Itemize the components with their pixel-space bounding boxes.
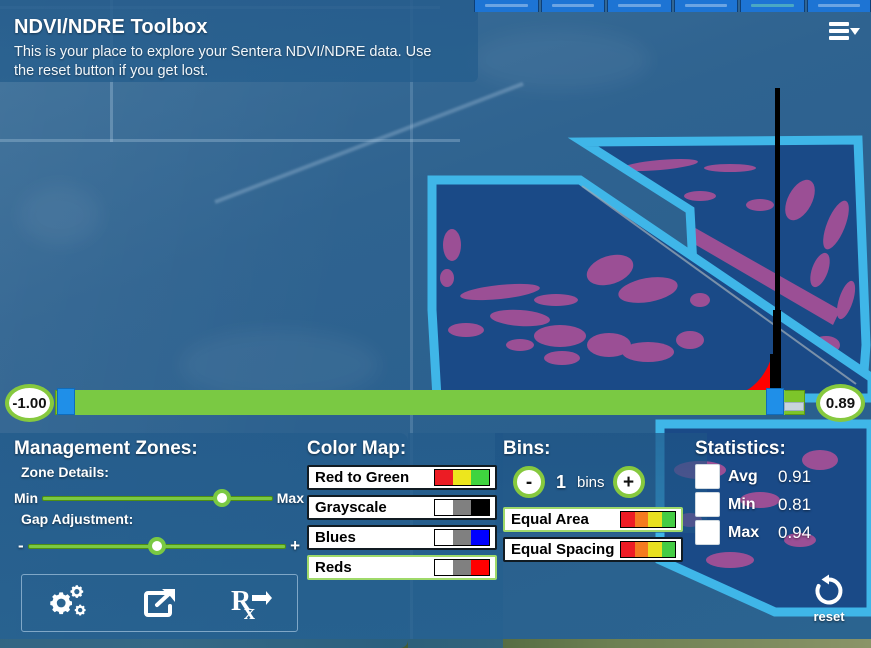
tab-1[interactable] bbox=[474, 0, 539, 12]
ndvi-range-slider[interactable]: -1.00 0.89 bbox=[0, 384, 871, 422]
bins-mode-label: Equal Area bbox=[505, 511, 620, 528]
management-zones-action-bar: R x bbox=[21, 574, 298, 632]
tab-5[interactable] bbox=[740, 0, 805, 12]
range-slider-handle-max[interactable] bbox=[766, 388, 784, 415]
statistics-checkbox-max[interactable] bbox=[695, 520, 720, 545]
menu-bar bbox=[829, 29, 849, 33]
management-zones-title: Management Zones: bbox=[14, 438, 304, 460]
range-max-value: 0.89 bbox=[816, 384, 865, 422]
gap-adjustment-slider[interactable] bbox=[28, 537, 286, 555]
statistics-title: Statistics: bbox=[695, 438, 870, 460]
color-map-option-label: Reds bbox=[309, 559, 434, 576]
bins-section: Bins: - 1 bins + Equal Area Equal Spacin… bbox=[503, 438, 693, 567]
gap-adjustment-slider-row: - + bbox=[14, 536, 304, 556]
settings-gears-icon[interactable] bbox=[47, 583, 91, 623]
color-map-option-label: Red to Green bbox=[309, 469, 434, 486]
statistics-value-max: 0.94 bbox=[778, 523, 811, 543]
bins-increment-button[interactable]: + bbox=[613, 466, 645, 498]
gap-adjustment-label: Gap Adjustment: bbox=[21, 511, 304, 527]
color-swatch bbox=[620, 511, 676, 528]
prescription-rx-icon[interactable]: R x bbox=[230, 583, 272, 623]
zone-detail-slider[interactable] bbox=[42, 489, 273, 507]
range-slider-stub bbox=[784, 402, 804, 411]
bins-count-value: 1 bbox=[553, 472, 569, 493]
slider-thumb[interactable] bbox=[213, 489, 231, 507]
bins-mode-equal-area[interactable]: Equal Area bbox=[503, 507, 683, 532]
tab-label bbox=[818, 4, 861, 7]
ndvi-toolbox-app: NDVI/NDRE Toolbox This is your place to … bbox=[0, 0, 871, 648]
statistics-row-avg: Avg 0.91 bbox=[695, 464, 870, 489]
management-zones-section: Management Zones: Zone Details: Min Max … bbox=[14, 438, 304, 556]
tab-label bbox=[685, 4, 728, 7]
page-title: NDVI/NDRE Toolbox bbox=[14, 16, 452, 39]
statistics-label-avg: Avg bbox=[720, 468, 778, 486]
statistics-row-max: Max 0.94 bbox=[695, 520, 870, 545]
color-swatch bbox=[434, 499, 490, 516]
statistics-section: Statistics: Avg 0.91 Min 0.81 Max 0.94 bbox=[695, 438, 870, 548]
slider-thumb[interactable] bbox=[148, 537, 166, 555]
color-map-option-reds[interactable]: Reds bbox=[307, 555, 497, 580]
toolbox-header: NDVI/NDRE Toolbox This is your place to … bbox=[0, 4, 466, 91]
statistics-checkbox-min[interactable] bbox=[695, 492, 720, 517]
color-swatch bbox=[434, 469, 490, 486]
menu-bar bbox=[829, 22, 849, 26]
zone-detail-slider-row: Min Max bbox=[14, 489, 304, 507]
bins-mode-label: Equal Spacing bbox=[505, 541, 620, 558]
reset-circular-arrow-icon bbox=[812, 574, 846, 608]
bins-decrement-button[interactable]: - bbox=[513, 466, 545, 498]
color-map-title: Color Map: bbox=[307, 438, 497, 460]
statistics-value-min: 0.81 bbox=[778, 495, 811, 515]
tab-label bbox=[751, 4, 794, 7]
color-map-option-blues[interactable]: Blues bbox=[307, 525, 497, 550]
color-map-section: Color Map: Red to Green Grayscale Blues bbox=[307, 438, 497, 585]
color-map-option-grayscale[interactable]: Grayscale bbox=[307, 495, 497, 520]
slider-track bbox=[42, 496, 273, 501]
range-slider-fill bbox=[57, 390, 785, 415]
tab-6[interactable] bbox=[807, 0, 871, 12]
color-map-option-label: Grayscale bbox=[309, 499, 434, 516]
zone-details-label: Zone Details: bbox=[21, 464, 304, 480]
tab-2[interactable] bbox=[541, 0, 606, 12]
page-subtitle: This is your place to explore your Sente… bbox=[14, 43, 452, 81]
controls-panel: Management Zones: Zone Details: Min Max … bbox=[0, 433, 871, 648]
bins-title: Bins: bbox=[503, 438, 693, 460]
svg-text:x: x bbox=[244, 599, 255, 623]
bins-unit-label: bins bbox=[577, 474, 605, 491]
color-swatch bbox=[434, 559, 490, 576]
color-swatch bbox=[620, 541, 676, 558]
share-export-icon[interactable] bbox=[140, 584, 180, 622]
zone-max-label: Max bbox=[277, 490, 304, 506]
bins-mode-equal-spacing[interactable]: Equal Spacing bbox=[503, 537, 683, 562]
statistics-value-avg: 0.91 bbox=[778, 467, 811, 487]
tab-label bbox=[552, 4, 595, 7]
statistics-label-min: Min bbox=[720, 496, 778, 514]
hamburger-menu-icon[interactable] bbox=[829, 20, 859, 46]
zone-min-label: Min bbox=[14, 490, 38, 506]
statistics-row-min: Min 0.81 bbox=[695, 492, 870, 517]
reset-button[interactable]: reset bbox=[801, 574, 857, 624]
statistics-checkbox-avg[interactable] bbox=[695, 464, 720, 489]
gap-increment-label[interactable]: + bbox=[290, 536, 300, 556]
color-map-option-red-to-green[interactable]: Red to Green bbox=[307, 465, 497, 490]
color-map-option-label: Blues bbox=[309, 529, 434, 546]
statistics-label-max: Max bbox=[720, 524, 778, 542]
top-tab-strip[interactable] bbox=[474, 0, 871, 12]
range-min-value: -1.00 bbox=[5, 384, 54, 422]
gap-decrement-label[interactable]: - bbox=[18, 536, 24, 556]
ndvi-histogram-overlay bbox=[0, 80, 871, 400]
tab-3[interactable] bbox=[607, 0, 672, 12]
tab-label bbox=[485, 4, 528, 7]
bins-stepper: - 1 bins + bbox=[503, 466, 693, 498]
range-slider-handle-min[interactable] bbox=[57, 388, 75, 415]
color-swatch bbox=[434, 529, 490, 546]
menu-bar bbox=[829, 36, 849, 40]
tab-label bbox=[618, 4, 661, 7]
reset-label: reset bbox=[813, 609, 844, 624]
tab-4[interactable] bbox=[674, 0, 739, 12]
chevron-down-icon bbox=[850, 28, 860, 35]
histogram-bar-peak bbox=[775, 88, 780, 338]
